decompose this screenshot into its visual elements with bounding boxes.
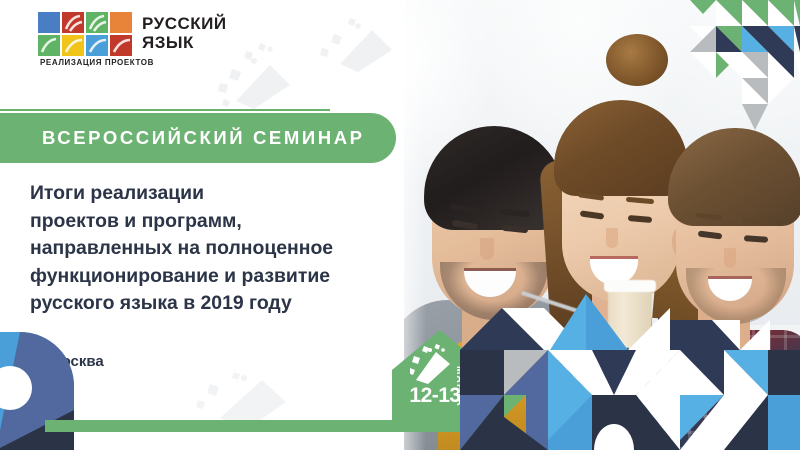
logo-wordmark: РУССКИЙ ЯЗЫК [142,14,227,52]
headline-line-4: функционирование и развитие [30,263,390,291]
photo-person-mid-nose [606,228,618,248]
logo-subtitle: РЕАЛИЗАЦИЯ ПРОЕКТОВ [40,58,154,67]
page-title: Итоги реализации проектов и программ, на… [30,180,390,318]
logo-tiles-svg [38,12,134,56]
headline-line-3: направленных на полноценное [30,235,390,263]
event-type-banner: ВСЕРОССИЙСКИЙ СЕМИНАР [0,113,396,163]
party-popper-icon-watermark-2 [310,12,400,82]
logo-underline-rule [0,109,330,111]
photo-person-mid-hair-bun [606,34,668,86]
triangle-mosaic-bottom-right [440,290,800,450]
triangle-mosaic-top-right [690,0,800,130]
logo-tile-grid [38,12,134,56]
photo-person-right-nose [724,248,736,268]
logo-line1: РУССКИЙ [142,14,227,33]
photo-person-left-nose [480,238,494,260]
logo-line2: ЯЗЫК [142,33,227,52]
logo[interactable]: РУССКИЙ ЯЗЫК РЕАЛИЗАЦИЯ ПРОЕКТОВ [38,12,218,74]
headline-line-5: русского языка в 2019 году [30,290,390,318]
event-type-label: ВСЕРОССИЙСКИЙ СЕМИНАР [0,127,365,149]
poster-root: РУССКИЙ ЯЗЫК РЕАЛИЗАЦИЯ ПРОЕКТОВ ВСЕРОСС… [0,0,800,450]
headline-line-2: проектов и программ, [30,208,390,236]
headline-line-1: Итоги реализации [30,180,390,208]
circle-decoration-left [0,332,74,450]
